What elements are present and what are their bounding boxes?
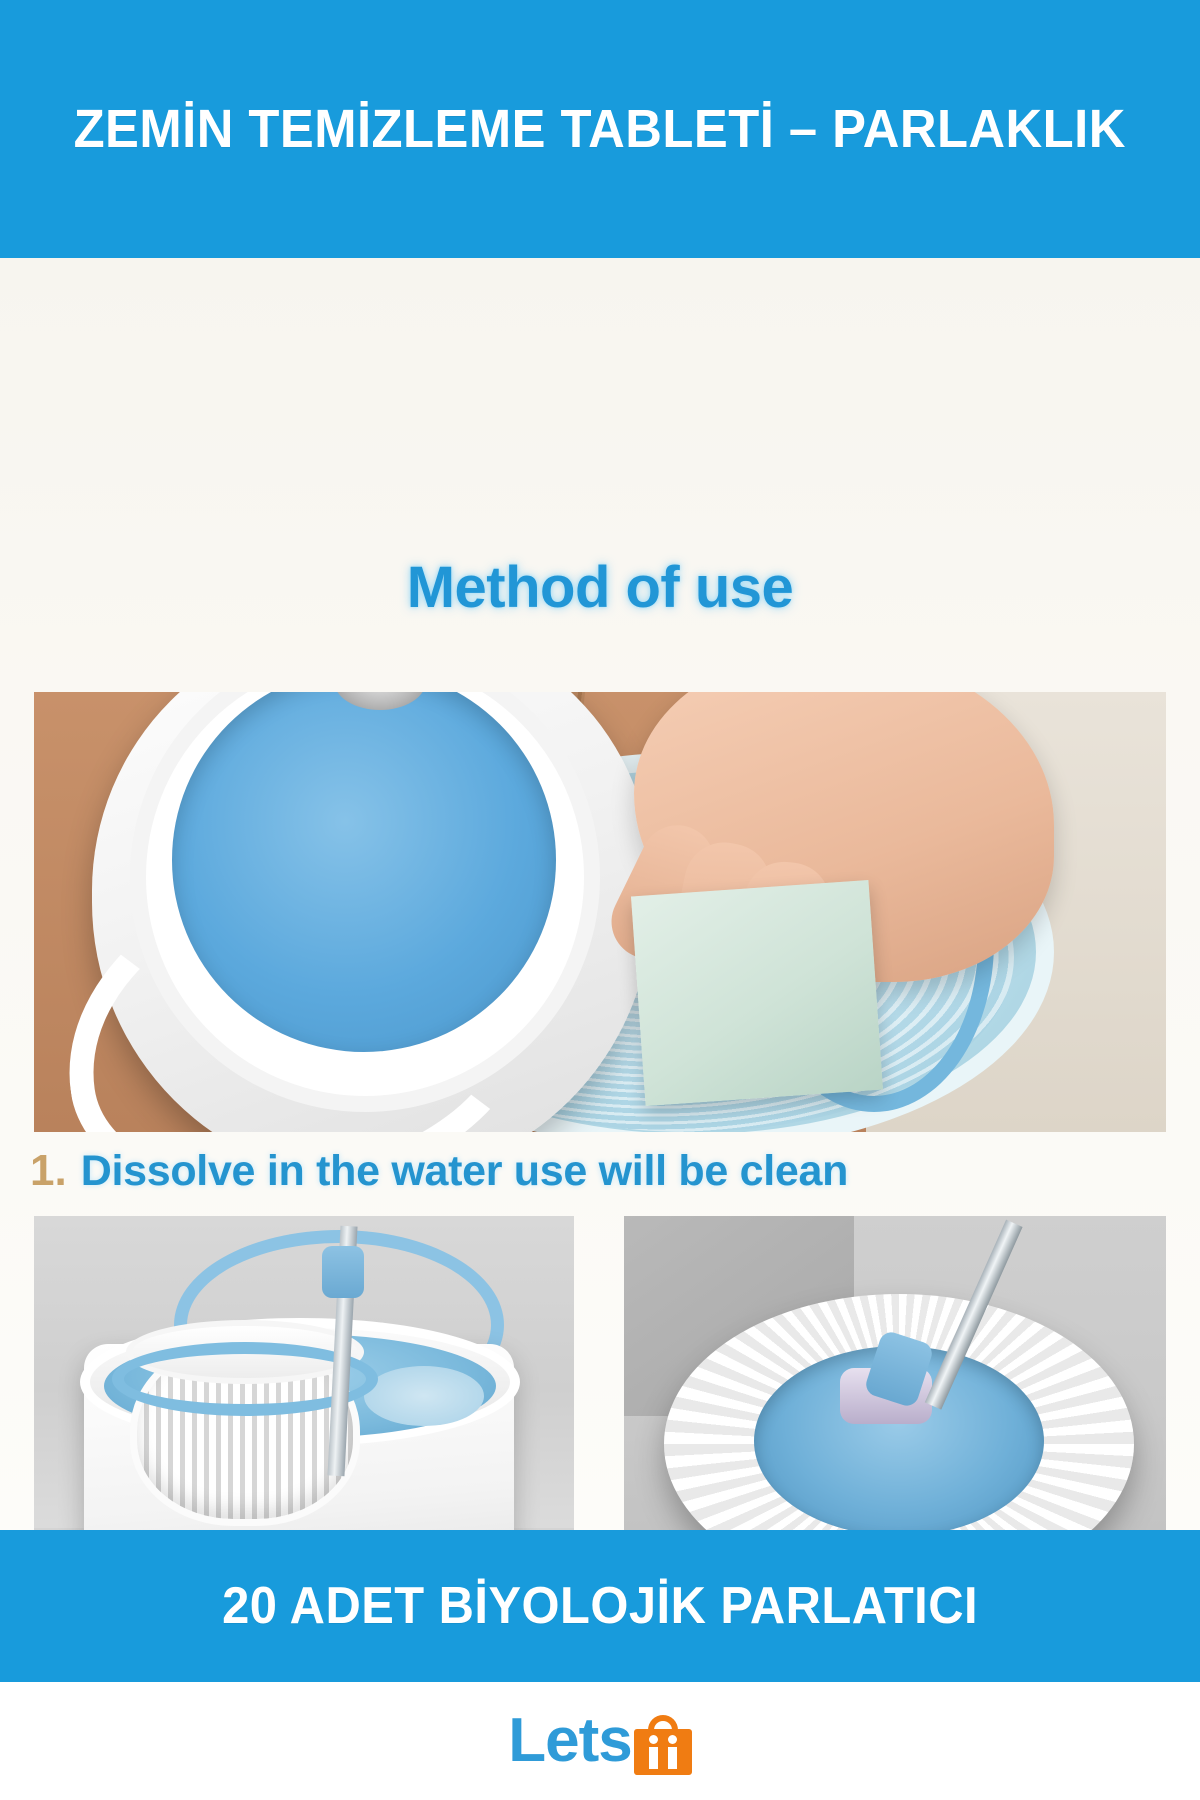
shopping-bag-icon bbox=[634, 1715, 692, 1775]
step-2-scene bbox=[34, 1216, 574, 1530]
letter-i-stem bbox=[649, 1747, 658, 1769]
product-title: ZEMİN TEMİZLEME TABLETİ – PARLAKLIK bbox=[74, 102, 1126, 156]
method-of-use-heading: Method of use bbox=[0, 554, 1200, 621]
cleaning-tablet bbox=[631, 880, 883, 1106]
mop-pole-collar bbox=[322, 1246, 364, 1298]
footer: Lets bbox=[0, 1682, 1200, 1800]
water-in-bucket bbox=[364, 1366, 484, 1426]
step-1-caption: 1. Dissolve in the water use will be cle… bbox=[30, 1146, 848, 1196]
step-2-photo bbox=[34, 1216, 574, 1530]
letter-i-stem bbox=[668, 1747, 677, 1769]
step-1-number: 1. bbox=[30, 1146, 67, 1196]
product-quantity-title: 20 ADET BİYOLOJİK PARLATICI bbox=[222, 1580, 978, 1632]
shopping-bag-letters bbox=[634, 1729, 692, 1775]
letter-i-first bbox=[649, 1735, 658, 1775]
bottom-banner: 20 ADET BİYOLOJİK PARLATICI bbox=[0, 1530, 1200, 1682]
top-banner: ZEMİN TEMİZLEME TABLETİ – PARLAKLIK bbox=[0, 0, 1200, 258]
step-1-photo bbox=[34, 692, 1166, 1132]
step-3-photo bbox=[624, 1216, 1166, 1530]
step-1-text: Dissolve in the water use will be clean bbox=[81, 1147, 848, 1196]
letter-i-second bbox=[668, 1735, 677, 1775]
brand-logo[interactable]: Lets bbox=[508, 1707, 691, 1775]
instructions-panel: Method of use bbox=[0, 258, 1200, 1530]
letter-i-dot bbox=[668, 1735, 677, 1744]
letter-i-dot bbox=[649, 1735, 658, 1744]
product-infographic: ZEMİN TEMİZLEME TABLETİ – PARLAKLIK Meth… bbox=[0, 0, 1200, 1800]
brand-name: Lets bbox=[508, 1710, 631, 1772]
step-3-scene bbox=[624, 1216, 1166, 1530]
step-1-scene bbox=[34, 692, 1166, 1132]
